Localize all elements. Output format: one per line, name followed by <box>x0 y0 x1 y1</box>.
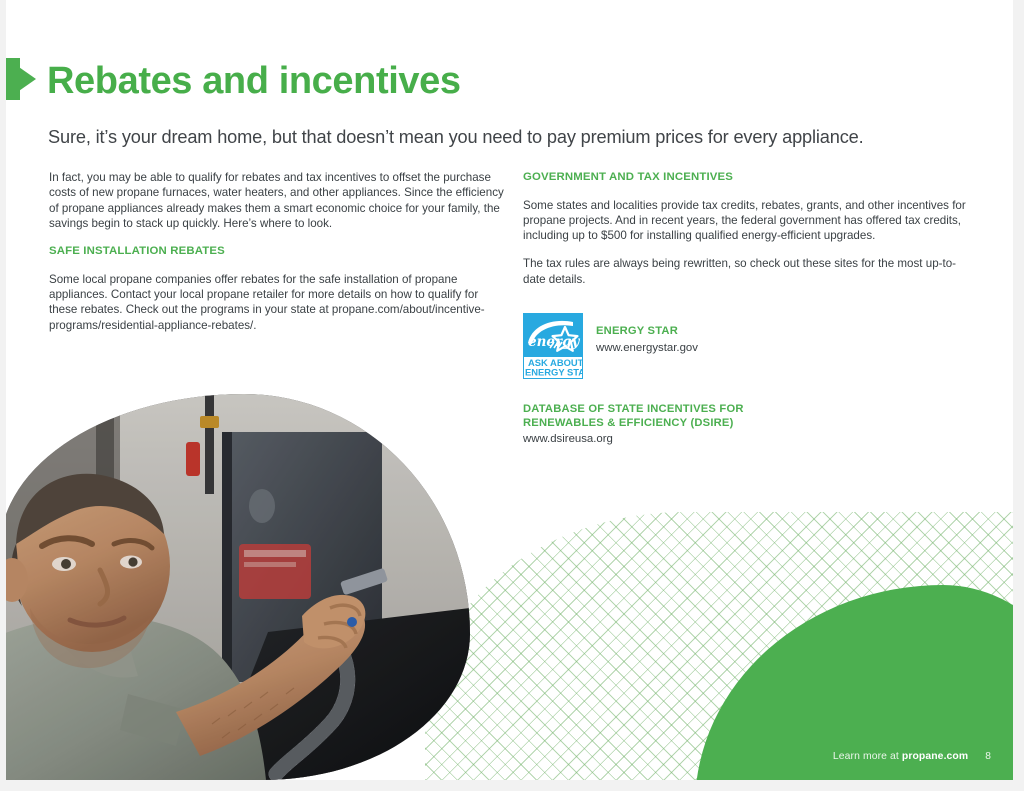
learn-more-prefix: Learn more at <box>833 751 902 762</box>
page-number: 8 <box>985 751 991 762</box>
technician-photo <box>6 394 470 780</box>
safe-installation-rebates-heading: SAFE INSTALLATION REBATES <box>49 244 504 259</box>
document-page: Rebates and incentives Sure, it’s your d… <box>0 0 1024 791</box>
learn-more-site: propane.com <box>902 751 968 762</box>
energy-star-logo-line2: ENERGY STAR <box>525 367 583 378</box>
page-footer: Learn more at propane.com 8 <box>833 751 991 762</box>
energy-star-url[interactable]: www.energystar.gov <box>596 341 698 356</box>
learn-more-text[interactable]: Learn more at propane.com <box>833 751 968 762</box>
left-text-column: In fact, you may be able to qualify for … <box>49 170 504 333</box>
energy-star-logo-icon: energy ASK ABOUT ENERGY STAR <box>523 313 583 379</box>
technician-photo-image <box>6 394 470 780</box>
green-arrow-icon <box>6 58 36 100</box>
page-title: Rebates and incentives <box>47 62 461 102</box>
energy-star-name: ENERGY STAR <box>596 325 698 339</box>
left-intro-paragraph: In fact, you may be able to qualify for … <box>49 170 504 231</box>
dsire-name-line-1: DATABASE OF STATE INCENTIVES FOR <box>523 403 744 417</box>
dsire-text-block: DATABASE OF STATE INCENTIVES FOR RENEWAB… <box>523 403 744 447</box>
page-subtitle: Sure, it’s your dream home, but that doe… <box>48 127 864 149</box>
resource-item-dsire[interactable]: DATABASE OF STATE INCENTIVES FOR RENEWAB… <box>523 403 983 447</box>
government-tax-incentives-paragraph-2: The tax rules are always being rewritten… <box>523 256 973 287</box>
government-tax-incentives-heading: GOVERNMENT AND TAX INCENTIVES <box>523 170 973 185</box>
dsire-name-line-2: RENEWABLES & EFFICIENCY (DSIRE) <box>523 417 744 431</box>
government-tax-incentives-paragraph-1: Some states and localities provide tax c… <box>523 198 973 244</box>
energy-star-text-block: ENERGY STAR www.energystar.gov <box>596 313 698 356</box>
safe-installation-rebates-body: Some local propane companies offer rebat… <box>49 272 504 333</box>
right-text-column: GOVERNMENT AND TAX INCENTIVES Some state… <box>523 170 973 287</box>
dsire-url[interactable]: www.dsireusa.org <box>523 432 744 447</box>
resource-item-energy-star[interactable]: energy ASK ABOUT ENERGY STAR ENERGY STAR… <box>523 313 983 379</box>
resource-links-list: energy ASK ABOUT ENERGY STAR ENERGY STAR… <box>523 313 983 471</box>
page-sheet: Rebates and incentives Sure, it’s your d… <box>6 0 1013 780</box>
